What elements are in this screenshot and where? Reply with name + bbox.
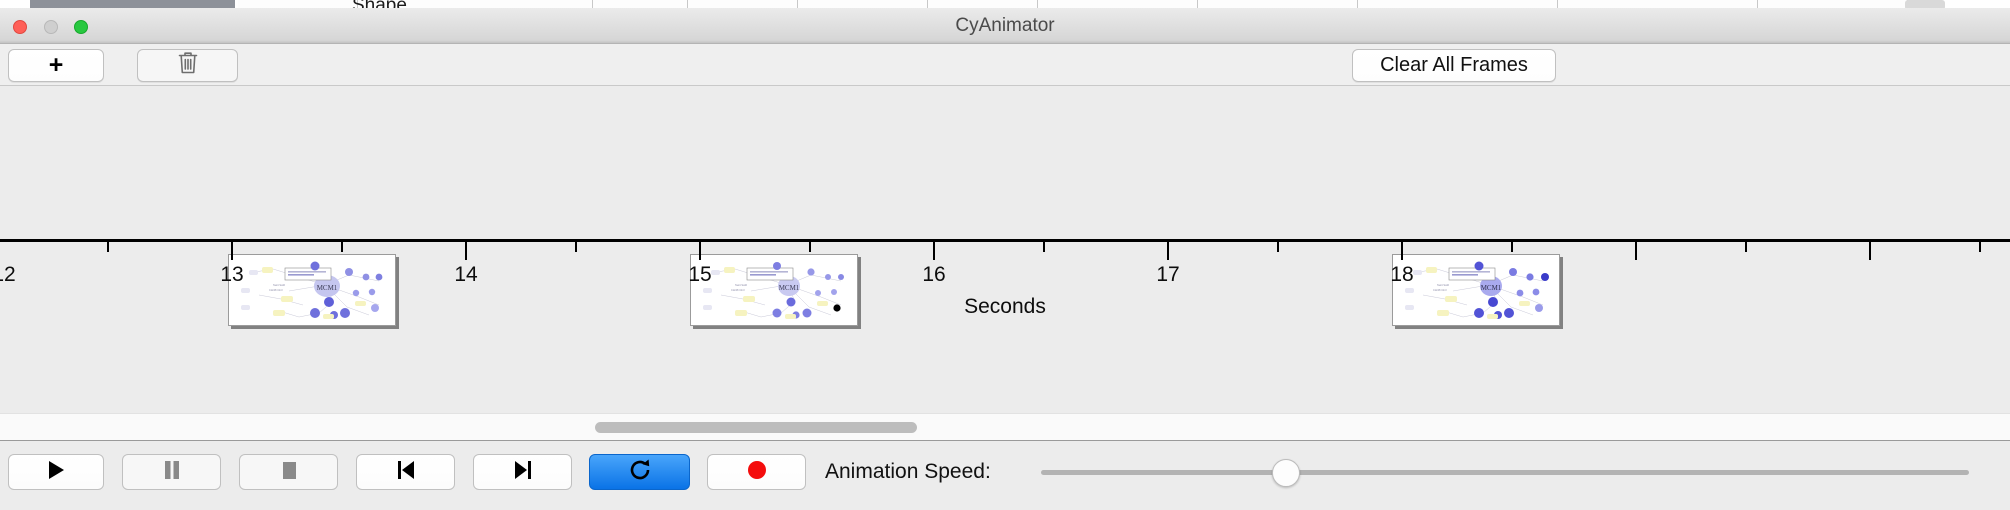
svg-text:Cdc28 Cln3: Cdc28 Cln3 <box>731 288 745 292</box>
skip-to-start-button[interactable] <box>356 454 455 490</box>
loop-button[interactable] <box>589 454 690 490</box>
ruler-tick-minor <box>1277 242 1279 252</box>
play-button[interactable] <box>8 454 104 490</box>
timeline-ruler <box>0 239 2010 242</box>
animation-speed-slider[interactable] <box>1041 470 1969 475</box>
record-icon <box>746 459 768 486</box>
ruler-tick-minor <box>1979 242 1981 252</box>
timeline-scrollbar-thumb[interactable] <box>595 422 917 433</box>
pause-icon <box>162 459 182 486</box>
ruler-tick-major <box>933 242 935 260</box>
ruler-label: 15 <box>688 263 711 287</box>
ruler-tick-minor <box>107 242 109 252</box>
ruler-label: 12 <box>0 263 16 287</box>
pause-button[interactable] <box>122 454 221 490</box>
ruler-tick-major <box>1635 242 1637 260</box>
ruler-tick-major <box>465 242 467 260</box>
ruler-tick-minor <box>809 242 811 252</box>
ruler-label: 16 <box>922 263 945 287</box>
animation-speed-slider-thumb[interactable] <box>1272 459 1300 487</box>
svg-text:Cdc28 Cln3: Cdc28 Cln3 <box>269 288 283 292</box>
ruler-tick-major <box>1869 242 1871 260</box>
window-title: CyAnimator <box>0 8 2010 44</box>
ruler-label: 18 <box>1390 263 1413 287</box>
svg-text:Cdc28 Cln3: Cdc28 Cln3 <box>1433 288 1447 292</box>
ruler-tick-minor <box>1511 242 1513 252</box>
ruler-label: 17 <box>1156 263 1179 287</box>
skip-forward-icon <box>512 459 534 486</box>
record-button[interactable] <box>707 454 806 490</box>
svg-text:MCM1: MCM1 <box>317 284 338 292</box>
svg-text:Swi4 Swi6: Swi4 Swi6 <box>273 283 286 287</box>
frame-toolbar: + Clear All Frames <box>0 44 2010 86</box>
add-frame-button[interactable]: + <box>8 49 104 82</box>
delete-frame-button[interactable] <box>137 49 238 82</box>
ruler-tick-minor <box>341 242 343 252</box>
trash-icon <box>177 50 199 81</box>
svg-text:MCM1: MCM1 <box>1481 284 1502 292</box>
loop-icon <box>628 458 652 487</box>
svg-text:Swi4 Swi6: Swi4 Swi6 <box>735 283 748 287</box>
ruler-label: 14 <box>454 263 477 287</box>
ruler-tick-minor <box>1043 242 1045 252</box>
ruler-tick-major <box>699 242 701 260</box>
ruler-tick-major <box>1401 242 1403 260</box>
ruler-label: 13 <box>220 263 243 287</box>
svg-text:MCM1: MCM1 <box>779 284 800 292</box>
clear-all-frames-label: Clear All Frames <box>1380 54 1528 77</box>
axis-title-seconds: Seconds <box>0 295 2010 319</box>
stop-icon <box>279 459 299 486</box>
animation-speed-label: Animation Speed: <box>825 454 991 490</box>
ruler-tick-major <box>231 242 233 260</box>
skip-backward-icon <box>395 459 417 486</box>
cyanimator-window: Shape CyAnimator + Clear All Frames <box>0 0 2010 510</box>
ruler-tick-minor <box>575 242 577 252</box>
play-icon <box>46 459 66 486</box>
skip-to-end-button[interactable] <box>473 454 572 490</box>
timeline-scrollbar[interactable] <box>0 413 2010 441</box>
ruler-tick-major <box>1167 242 1169 260</box>
svg-text:Swi4 Swi6: Swi4 Swi6 <box>1437 283 1450 287</box>
title-bar: CyAnimator <box>0 8 2010 44</box>
stop-button[interactable] <box>239 454 338 490</box>
clear-all-frames-button[interactable]: Clear All Frames <box>1352 49 1556 82</box>
plus-icon: + <box>49 53 64 78</box>
ruler-tick-minor <box>1745 242 1747 252</box>
playback-toolbar: Animation Speed: <box>0 441 2010 510</box>
timeline-panel[interactable]: MCM1 <box>0 86 2010 413</box>
